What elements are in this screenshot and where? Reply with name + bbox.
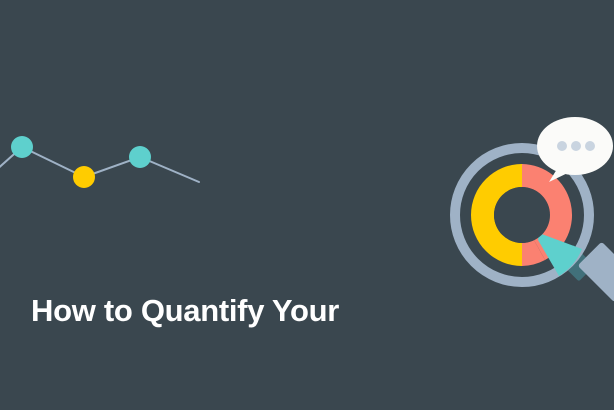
banner-canvas: How to Quantify Your Public Relations Im… bbox=[0, 0, 614, 410]
headline-title: How to Quantify Your Public Relations Im… bbox=[31, 191, 374, 410]
speech-bubble-dot-1 bbox=[557, 141, 567, 151]
donut-chart-graphic bbox=[471, 164, 582, 276]
headline-line-1: How to Quantify Your bbox=[31, 287, 374, 335]
donut-center-hole bbox=[494, 187, 550, 243]
speech-bubble-dot-2 bbox=[571, 141, 581, 151]
speech-bubble-dot-3 bbox=[585, 141, 595, 151]
